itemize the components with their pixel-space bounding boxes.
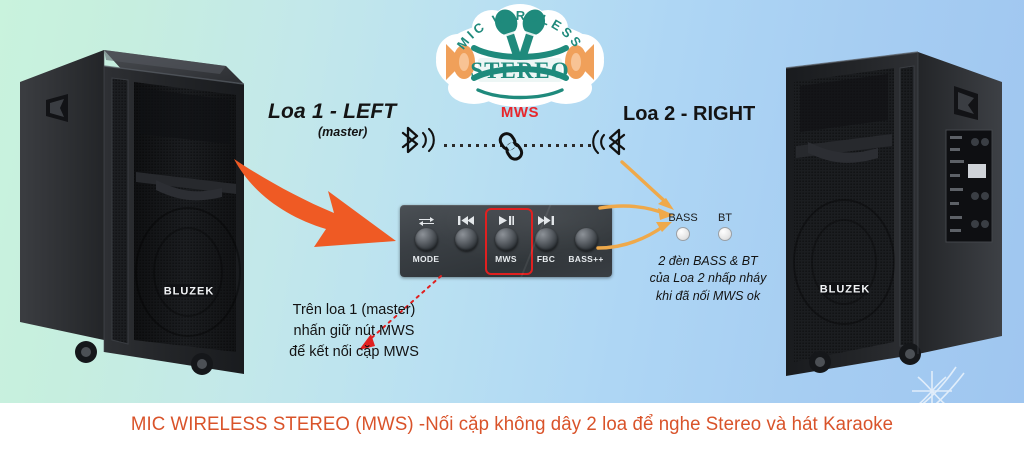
mws-logo: MIC WIRELESS STEREO: [434, 2, 606, 110]
bt-led: BT: [708, 212, 742, 241]
diagram-canvas: BLUZEK: [0, 0, 1024, 455]
right-note-line-1: 2 đèn BASS & BT: [632, 253, 784, 270]
bt-led-label: BT: [708, 212, 742, 224]
left-note-line-1: Trên loa 1 (master): [268, 300, 440, 321]
right-speaker-label: Loa 2 - RIGHT: [623, 103, 755, 126]
right-note-line-2: của Loa 2 nhấp nháy: [632, 270, 784, 287]
bottom-caption: MIC WIRELESS STEREO (MWS) -Nối cặp không…: [10, 414, 1014, 436]
mode-knob[interactable]: [415, 228, 438, 251]
pointer-arrow-to-panel: [228, 145, 404, 251]
chain-link-icon: [498, 129, 528, 161]
mws-highlight-box: [485, 208, 533, 275]
previous-track-icon: [446, 215, 486, 226]
bass-boost-knob[interactable]: [575, 228, 598, 251]
left-instruction-note: Trên loa 1 (master) nhấn giữ nút MWS để …: [268, 300, 440, 363]
repeat-icon: [406, 215, 446, 226]
bass-led-dot: [676, 227, 690, 241]
right-note-line-3: khi đã nối MWS ok: [632, 288, 784, 305]
right-instruction-note: 2 đèn BASS & BT của Loa 2 nhấp nháy khi …: [632, 253, 784, 305]
previous-track-button[interactable]: [446, 215, 486, 254]
mode-button[interactable]: MODE: [406, 215, 446, 264]
logo-sub-label: MWS: [434, 104, 606, 121]
svg-text:STEREO: STEREO: [470, 58, 569, 83]
left-speaker-role: (master): [318, 125, 367, 139]
bass-led: BASS: [666, 212, 700, 241]
bluetooth-receive-icon: [585, 124, 631, 160]
fbc-label: FBC: [526, 254, 566, 264]
speaker-control-panel: MODE: [400, 205, 612, 277]
left-note-line-3: để kết nối cặp MWS: [268, 342, 440, 363]
left-speaker-label: Loa 1 - LEFT: [268, 100, 418, 124]
right-speaker-image: BLUZEK: [778, 24, 1014, 382]
previous-track-knob[interactable]: [455, 228, 478, 251]
mode-label: MODE: [406, 254, 446, 264]
left-note-line-2: nhấn giữ nút MWS: [268, 321, 440, 342]
svg-text:BLUZEK: BLUZEK: [164, 286, 215, 298]
bt-led-dot: [718, 227, 732, 241]
svg-text:BLUZEK: BLUZEK: [820, 284, 871, 296]
led-indicators: BASS BT: [666, 212, 742, 252]
fbc-knob[interactable]: [535, 228, 558, 251]
bass-led-label: BASS: [666, 212, 700, 224]
